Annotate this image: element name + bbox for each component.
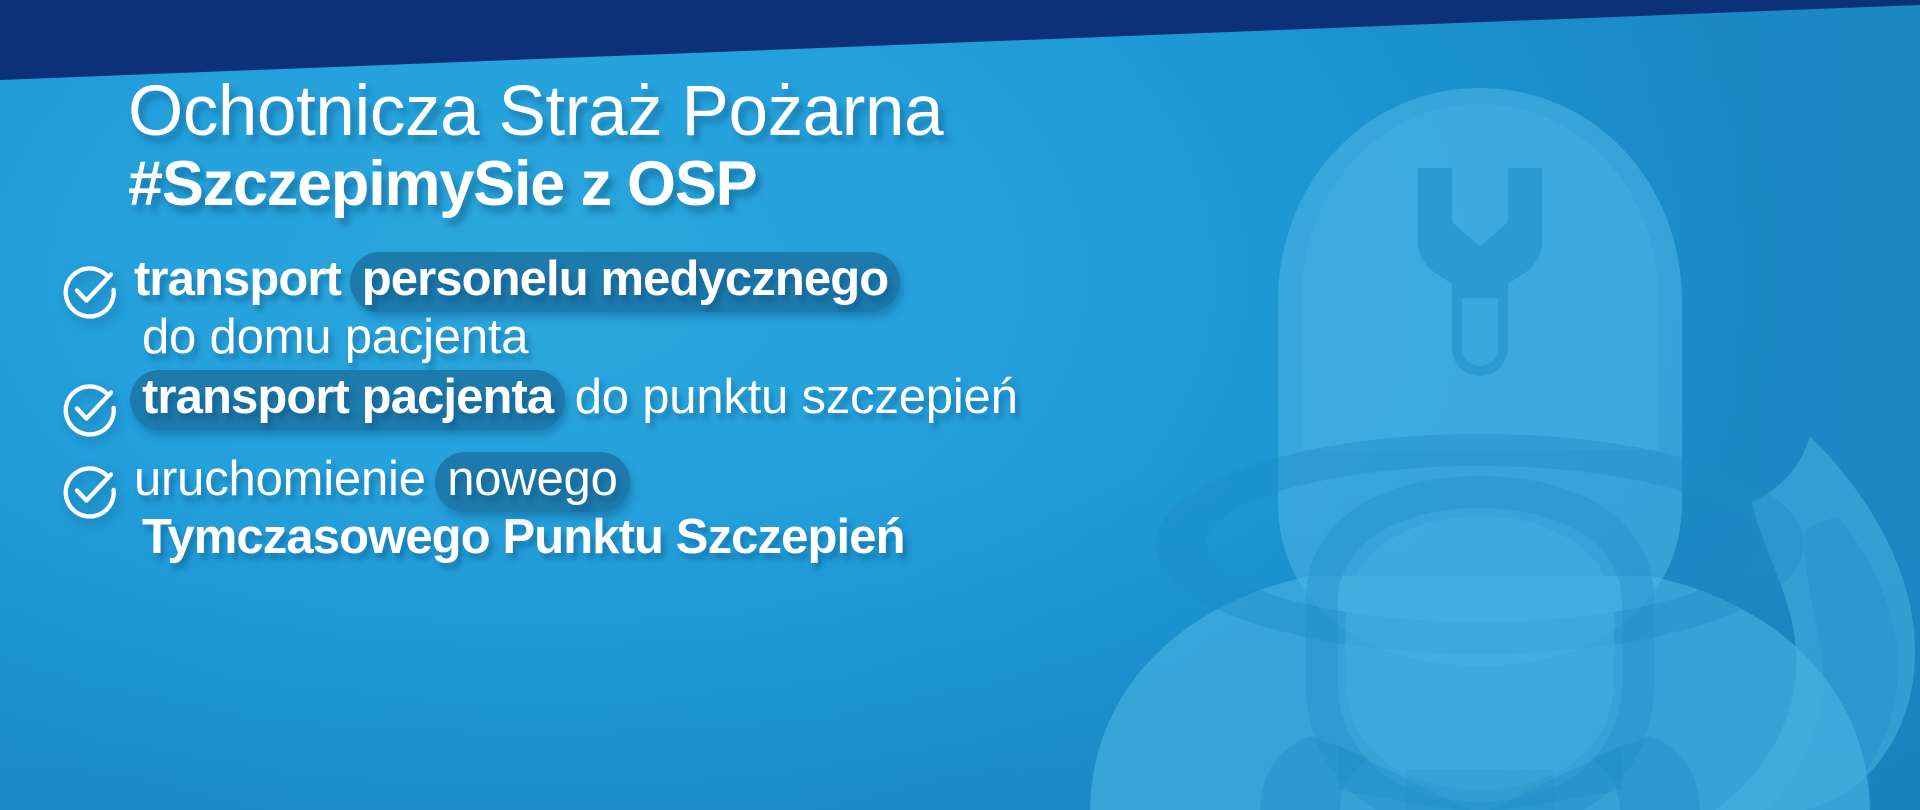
list-item-text: transport personelu medycznego do domu p…: [134, 252, 1190, 364]
list-item-line-2: Tymczasowego Punktu Szczepień: [134, 512, 1190, 564]
bullet2-text-plain: do punktu szczepień: [561, 370, 1017, 424]
bullet2-highlight-pill: transport pacjenta: [130, 370, 565, 430]
bullet2-text-highlighted: transport pacjenta: [142, 370, 553, 424]
list-item: uruchomienie nowego Tymczasowego Punktu …: [60, 452, 1190, 564]
list-item-text: uruchomienie nowego Tymczasowego Punktu …: [134, 452, 1190, 564]
bullet1-text-highlighted: personelu medycznego: [362, 252, 889, 306]
bullet3-text-plain: uruchomienie: [134, 452, 439, 506]
osp-vaccination-banner: Ochotnicza Straż Pożarna #SzczepimySie z…: [0, 0, 1920, 810]
list-item: transport pacjenta do punktu szczepień: [60, 370, 1190, 438]
bullet3-subtext: Tymczasowego Punktu Szczepień: [142, 510, 905, 564]
bullet3-highlight-pill: nowego: [435, 452, 629, 512]
bullet3-text-highlighted: nowego: [447, 452, 617, 506]
circle-check-icon: [60, 260, 120, 320]
background-right-shade: [1400, 0, 1920, 810]
page-title: Ochotnicza Straż Pożarna #SzczepimySie z…: [128, 76, 1168, 218]
list-item: transport personelu medycznego do domu p…: [60, 252, 1190, 364]
content-column: Ochotnicza Straż Pożarna #SzczepimySie z…: [0, 0, 1180, 810]
title-line-hashtag: #SzczepimySie z OSP: [128, 150, 1168, 218]
bullet1-text-plain: transport: [134, 252, 354, 306]
list-item-text: transport pacjenta do punktu szczepień: [134, 370, 1190, 430]
list-item-line-1: transport pacjenta do punktu szczepień: [134, 370, 1190, 430]
benefits-list: transport personelu medycznego do domu p…: [60, 252, 1190, 576]
bullet1-highlight-pill: personelu medycznego: [350, 252, 901, 312]
circle-check-icon: [60, 378, 120, 438]
list-item-line-1: transport personelu medycznego: [134, 252, 1190, 312]
list-item-line-2: do domu pacjenta: [134, 312, 1190, 364]
title-line-organization: Ochotnicza Straż Pożarna: [128, 76, 1168, 148]
list-item-line-1: uruchomienie nowego: [134, 452, 1190, 512]
circle-check-icon: [60, 460, 120, 520]
bullet1-subtext: do domu pacjenta: [142, 310, 528, 364]
